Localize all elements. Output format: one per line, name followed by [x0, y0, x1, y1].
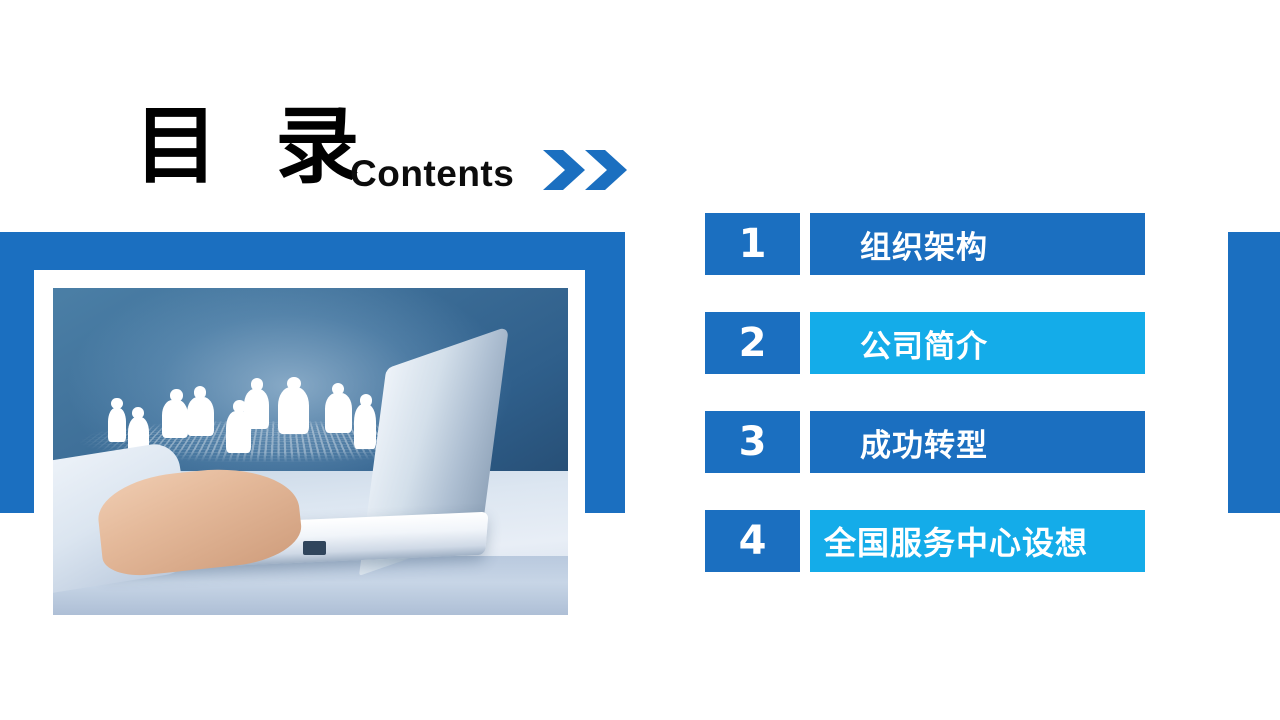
contents-item-number: 2	[705, 312, 800, 374]
contents-item-1[interactable]: 1 组织架构	[705, 213, 1145, 275]
contents-menu: 1 组织架构 2 公司简介 3 成功转型 4 全国服务中心设想	[705, 213, 1145, 572]
contents-item-number: 4	[705, 510, 800, 572]
contents-item-label: 成功转型	[810, 411, 1145, 473]
contents-item-number: 1	[705, 213, 800, 275]
contents-item-3[interactable]: 3 成功转型	[705, 411, 1145, 473]
contents-item-2[interactable]: 2 公司简介	[705, 312, 1145, 374]
contents-item-number: 3	[705, 411, 800, 473]
laptop-hologram-photo	[53, 288, 568, 615]
laptop-port-ethernet	[303, 541, 327, 555]
contents-item-4[interactable]: 4 全国服务中心设想	[705, 510, 1145, 572]
contents-slide: 目 录 Contents	[0, 0, 1280, 720]
double-chevron-right-icon	[541, 148, 631, 192]
contents-item-label: 组织架构	[810, 213, 1145, 275]
contents-item-label: 公司简介	[810, 312, 1145, 374]
right-edge-accent-block	[1228, 232, 1280, 513]
page-title-english: Contents	[350, 155, 514, 192]
page-title-chinese: 目 录	[134, 104, 373, 188]
contents-item-label: 全国服务中心设想	[810, 510, 1145, 572]
